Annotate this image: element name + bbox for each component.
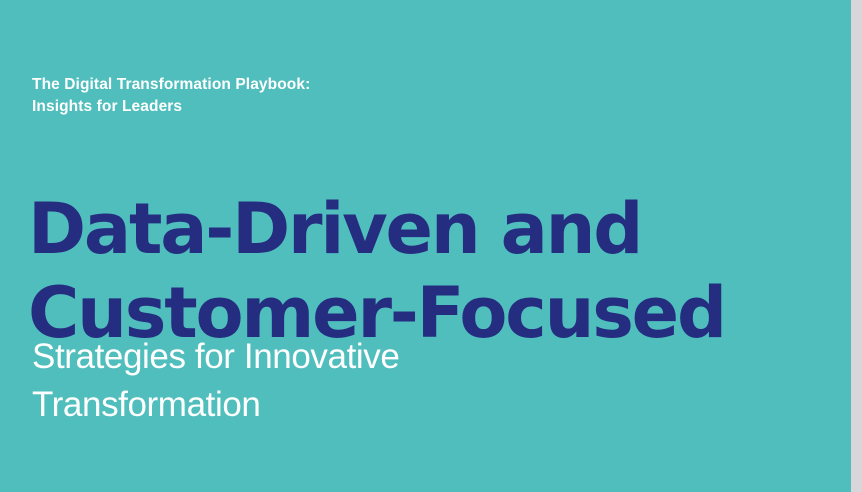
- slide-subtitle: Strategies for Innovative Transformation: [32, 333, 732, 429]
- slide-content: The Digital Transformation Playbook: Ins…: [32, 0, 822, 492]
- slide-eyebrow: The Digital Transformation Playbook: Ins…: [32, 74, 732, 118]
- title-slide: The Digital Transformation Playbook: Ins…: [0, 0, 851, 492]
- slide-headline: Data-Driven and Customer-Focused: [28, 187, 818, 355]
- right-edge-strip: [851, 0, 862, 492]
